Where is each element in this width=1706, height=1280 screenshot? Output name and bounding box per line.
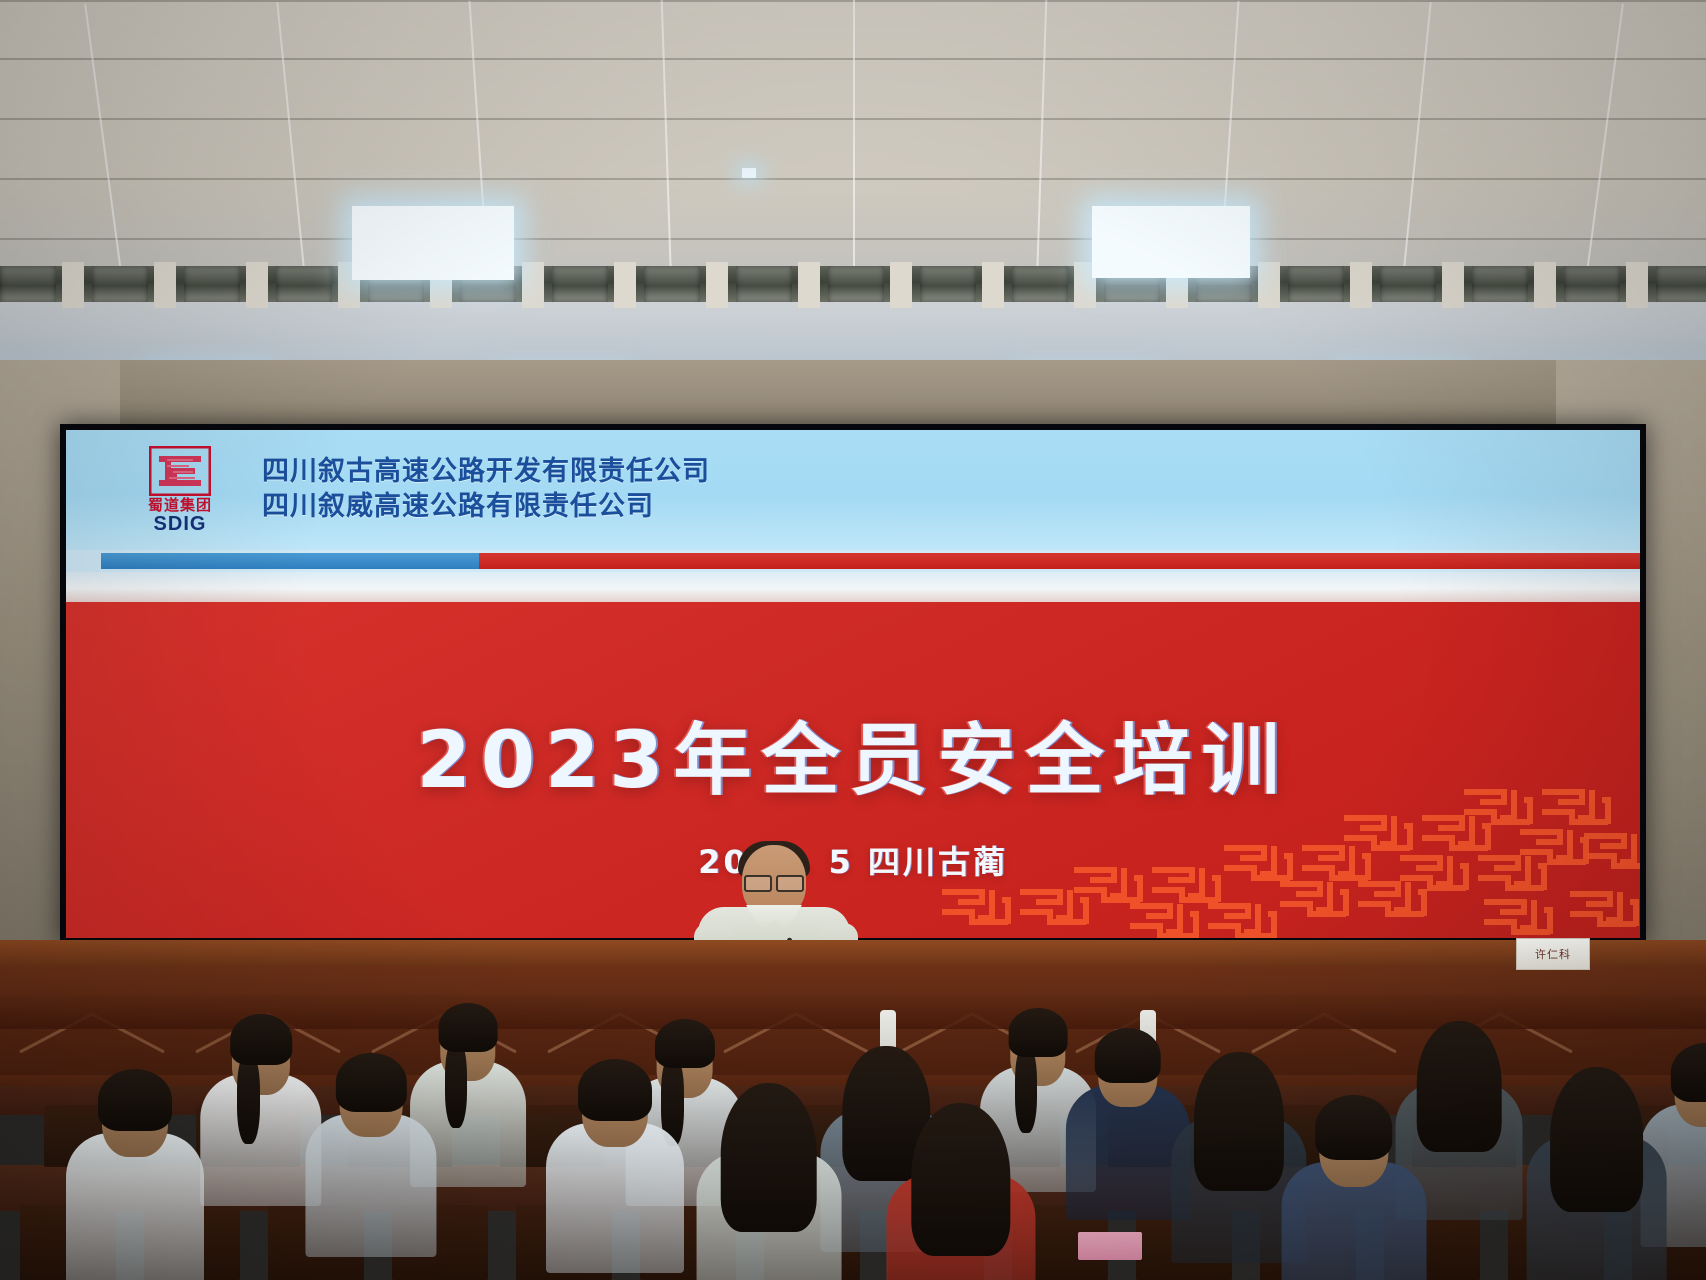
ceiling-slot-gap (1626, 262, 1648, 308)
audience-member-hair (439, 1003, 498, 1052)
seal-motif-tile (1480, 896, 1554, 938)
audience-member-hair (1193, 1052, 1283, 1191)
ceiling-slot-segment (736, 266, 792, 302)
ceiling-slot-segment (1656, 266, 1706, 302)
audience-member-hair (1315, 1095, 1393, 1160)
conference-hall-scene: 蜀道集团 SDIG 四川叙古高速公路开发有限责任公司 四川叙威高速公路有限责任公… (0, 0, 1706, 1280)
pink-box (1078, 1232, 1142, 1260)
slide-divider-bar (66, 550, 1640, 572)
ceiling-slot-segment (1472, 266, 1528, 302)
divider-blue-segment (101, 553, 479, 569)
audience-member-hair (98, 1069, 172, 1131)
audience-member-hair (336, 1053, 406, 1112)
ceiling-slot-segment (644, 266, 700, 302)
seal-motif-tile (1516, 826, 1590, 873)
ceiling-slot-gap (522, 262, 544, 308)
ceiling-slot-segment (276, 266, 332, 302)
ceiling-slot-segment (184, 266, 240, 302)
audience-member-hair (911, 1103, 1010, 1256)
audience-member (60, 1055, 210, 1280)
audience-member-ponytail (445, 1040, 467, 1127)
company-logo: 蜀道集团 SDIG (124, 446, 236, 534)
ceiling-slot-gap (614, 262, 636, 308)
ceiling-slot-gap (154, 262, 176, 308)
ceiling-slot-gap (982, 262, 1004, 308)
ceiling-slot-gap (1258, 262, 1280, 308)
ceiling-light-panel-9 (742, 168, 756, 178)
audience-member (540, 1045, 690, 1280)
audience-area (0, 955, 1706, 1280)
seal-motif-tile (1204, 900, 1278, 938)
ceiling-slot-gap (798, 262, 820, 308)
sdig-seal-pattern-decoration (920, 768, 1640, 938)
seal-motif-tile (1126, 900, 1200, 938)
ceiling-slot-gap (1442, 262, 1464, 308)
ceiling-slot-segment (1564, 266, 1620, 302)
logo-chinese-name: 蜀道集团 (148, 498, 212, 513)
audience-member (300, 1040, 443, 1268)
ceiling-slot-gap (62, 262, 84, 308)
seal-motif-tile (1580, 830, 1640, 877)
ceiling-slot-gap (1534, 262, 1556, 308)
audience-member (1275, 1080, 1433, 1280)
seal-motif-tile (938, 886, 1012, 933)
ceiling-slot-gap (706, 262, 728, 308)
slide-gap-band (66, 572, 1640, 602)
slide-header: 蜀道集团 SDIG 四川叙古高速公路开发有限责任公司 四川叙威高速公路有限责任公… (66, 430, 1640, 550)
audience-member-hair (230, 1014, 292, 1065)
audience-member-hair (1550, 1067, 1644, 1212)
ceiling-slot-gap (890, 262, 912, 308)
divider-red-segment (479, 553, 1640, 569)
ceiling-slot-gap (246, 262, 268, 308)
ceiling-slot-segment (552, 266, 608, 302)
presenter-glasses-icon (744, 875, 804, 888)
audience-member (690, 1070, 848, 1280)
audience-member-ponytail (237, 1053, 260, 1145)
ceiling-slot-segment (1380, 266, 1436, 302)
ceiling-slot-segment (1012, 266, 1068, 302)
audience-member-hair (720, 1083, 817, 1232)
audience-member (880, 1090, 1042, 1280)
company-names: 四川叙古高速公路开发有限责任公司 四川叙威高速公路有限责任公司 (262, 455, 710, 524)
ceiling-light-panel-1 (352, 206, 514, 280)
ceiling-service-slot (0, 266, 1706, 302)
company-name-line-2: 四川叙威高速公路有限责任公司 (262, 490, 710, 525)
logo-english-name: SDIG (154, 514, 207, 534)
ceiling-light-panel-2 (1092, 206, 1250, 278)
seal-motif-tile (1566, 888, 1640, 935)
audience-member-hair (1671, 1043, 1706, 1102)
ceiling-slot-segment (92, 266, 148, 302)
ceiling-slot-segment (828, 266, 884, 302)
audience-member-hair (578, 1059, 652, 1121)
ceiling-slot-segment (0, 266, 56, 302)
ceiling-slot-segment (920, 266, 976, 302)
sdig-seal-logo-icon (149, 446, 211, 496)
audience-member-hair (1009, 1008, 1068, 1057)
audience-member (1520, 1055, 1673, 1280)
audience-member-hair (1094, 1028, 1161, 1084)
company-name-line-1: 四川叙古高速公路开发有限责任公司 (262, 455, 710, 490)
seal-motif-tile (1396, 852, 1470, 899)
seal-motif-tile (1276, 878, 1350, 925)
ceiling-slot-segment (1288, 266, 1344, 302)
ceiling-slot-gap (1350, 262, 1372, 308)
